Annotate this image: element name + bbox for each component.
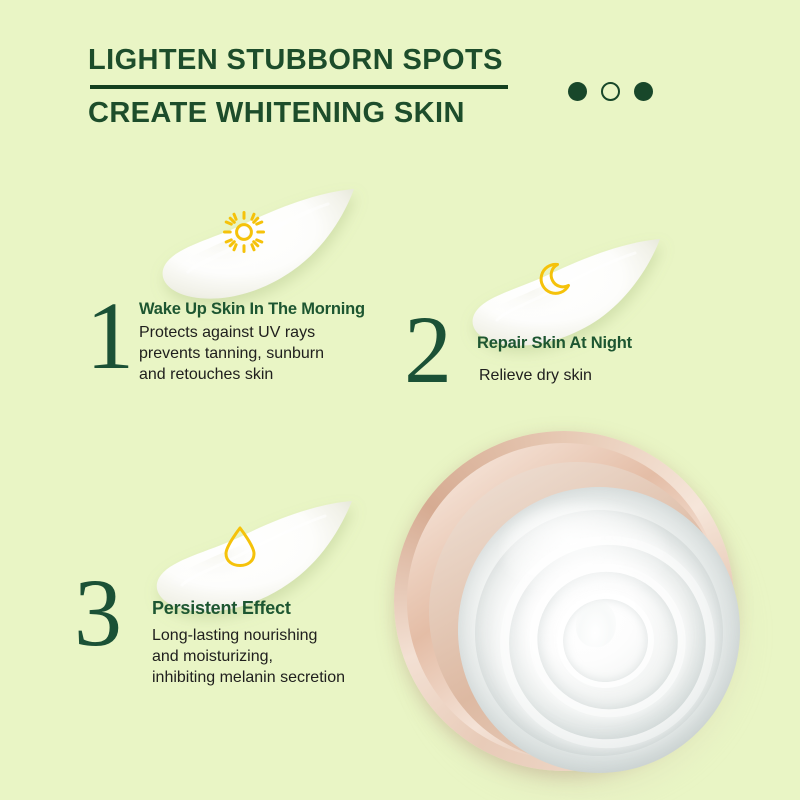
product-jar-image <box>386 425 764 800</box>
step-3-body-line-2: and moisturizing, <box>152 647 345 668</box>
step-body-1: Protects against UV rays prevents tannin… <box>139 323 324 385</box>
step-3-body-line-3: inhibiting melanin secretion <box>152 668 345 689</box>
carousel-dot-3[interactable] <box>634 82 653 101</box>
jar-rim <box>394 431 734 771</box>
jar-cream <box>458 487 740 773</box>
page-title: LIGHTEN STUBBORN SPOTS <box>88 44 518 76</box>
step-title-1: Wake Up Skin In The Morning <box>139 300 365 319</box>
cream-swoosh-2 <box>468 236 664 348</box>
step-title-2: Repair Skin At Night <box>477 334 632 353</box>
step-2-body-line-1: Relieve dry skin <box>479 366 592 387</box>
cream-swoosh-3 <box>152 498 356 614</box>
jar-rim-inner <box>407 443 721 759</box>
step-number-2: 2 <box>404 302 452 398</box>
step-body-3: Long-lasting nourishing and moisturizing… <box>152 626 345 688</box>
step-title-3: Persistent Effect <box>152 598 291 619</box>
jar-well <box>429 462 725 762</box>
step-number-1: 1 <box>86 288 134 384</box>
moon-icon <box>540 260 578 298</box>
step-1-body-line-1: Protects against UV rays <box>139 323 324 344</box>
step-1-body-line-2: prevents tanning, sunburn <box>139 344 324 365</box>
step-number-3: 3 <box>74 565 122 661</box>
header-block: LIGHTEN STUBBORN SPOTS CREATE WHITENING … <box>88 44 518 130</box>
header-divider <box>90 85 508 89</box>
sun-icon <box>222 210 266 254</box>
page-subtitle: CREATE WHITENING SKIN <box>88 97 518 130</box>
carousel-dot-2[interactable] <box>601 82 620 101</box>
carousel-dots[interactable] <box>568 82 653 101</box>
cream-highlight <box>503 504 667 601</box>
cream-swoosh-1 <box>158 186 358 301</box>
step-body-2: Relieve dry skin <box>479 366 592 387</box>
droplet-icon <box>222 524 258 568</box>
step-3-body-line-1: Long-lasting nourishing <box>152 626 345 647</box>
infographic-poster: LIGHTEN STUBBORN SPOTS CREATE WHITENING … <box>0 0 800 800</box>
step-1-body-line-3: and retouches skin <box>139 365 324 386</box>
carousel-dot-1[interactable] <box>568 82 587 101</box>
